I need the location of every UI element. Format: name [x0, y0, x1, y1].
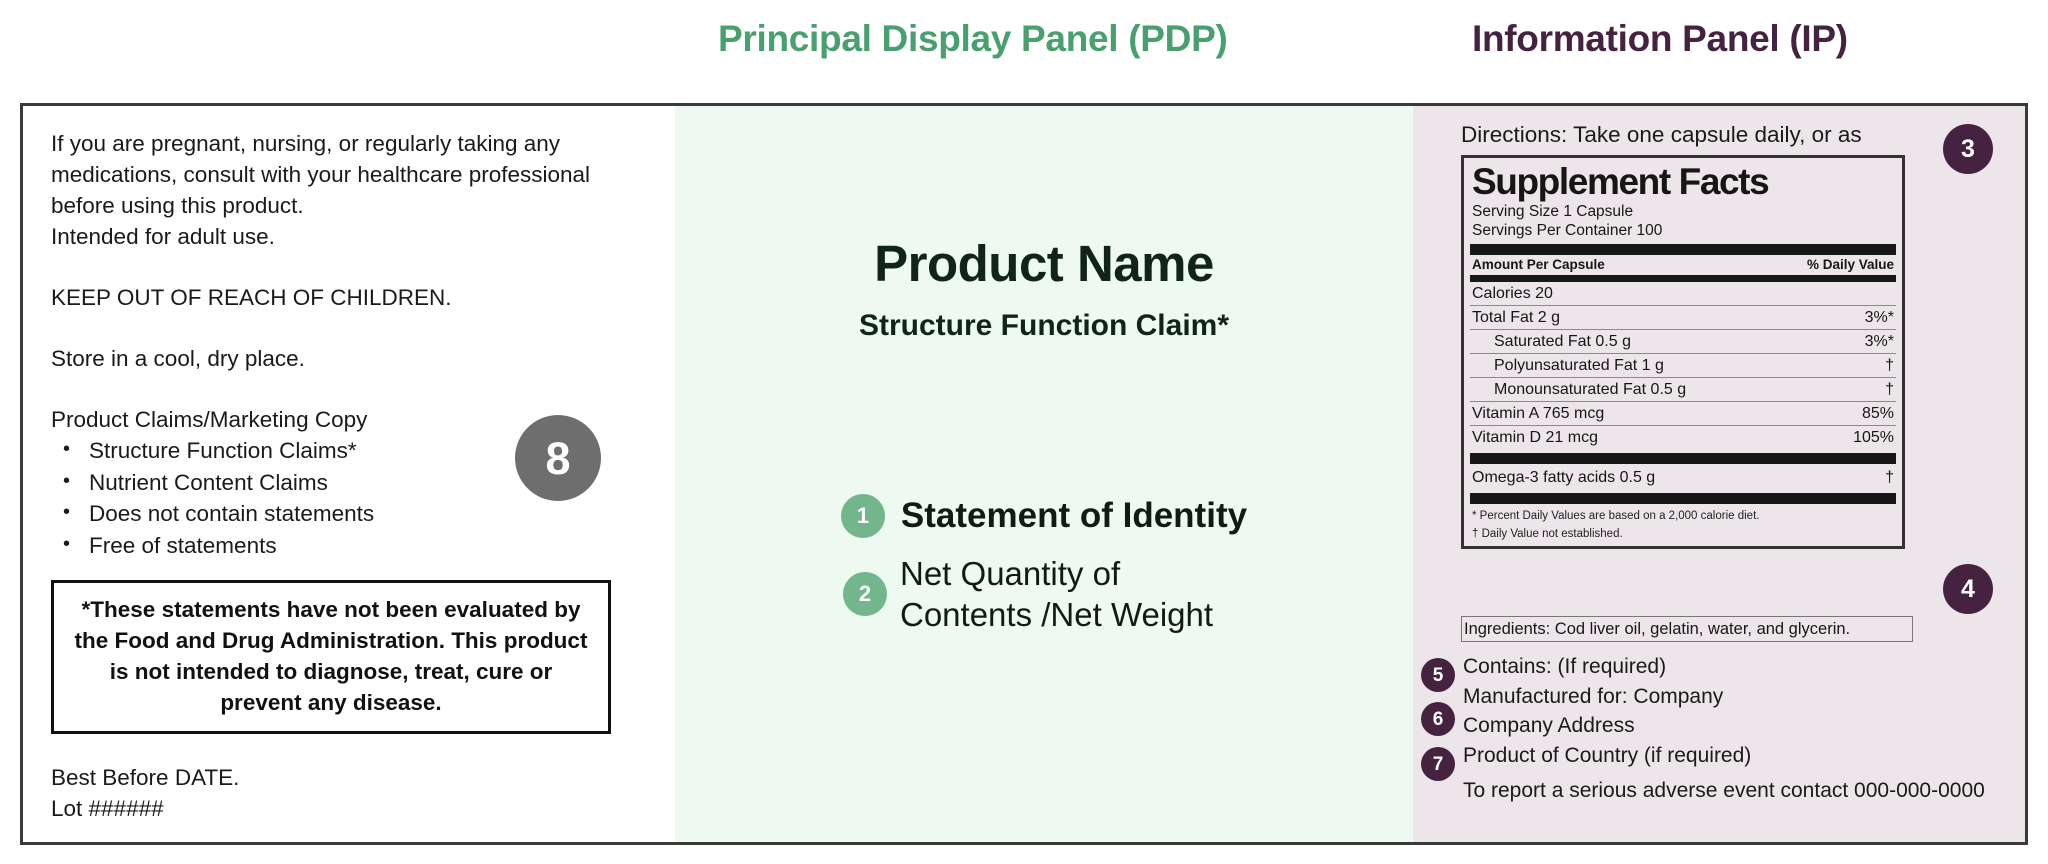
table-row: Monounsaturated Fat 0.5 g †: [1470, 378, 1896, 402]
table-row: Omega-3 fatty acids 0.5 g †: [1470, 466, 1896, 489]
list-item: Free of statements: [57, 530, 655, 562]
net-quantity-of-contents: Net Quantity of Contents /Net Weight: [900, 553, 1213, 635]
lot-number: Lot ######: [51, 793, 655, 824]
nutrient-name: Monounsaturated Fat 0.5 g: [1472, 379, 1686, 400]
column-header-daily-value: % Daily Value: [1807, 257, 1894, 272]
nutrient-name: Calories 20: [1472, 283, 1553, 304]
information-panel-lines: Contains: (If required) Manufactured for…: [1463, 652, 1985, 806]
supplement-label-frame: If you are pregnant, nursing, or regular…: [20, 103, 2028, 845]
callout-badge-2[interactable]: 2: [843, 572, 887, 616]
callout-badge-6[interactable]: 6: [1421, 702, 1455, 736]
ingredients-statement: Ingredients: Cod liver oil, gelatin, wat…: [1461, 616, 1913, 642]
nutrient-dv: †: [1885, 379, 1894, 400]
table-row: Saturated Fat 0.5 g 3%*: [1470, 330, 1896, 354]
adverse-event-statement: To report a serious adverse event contac…: [1463, 776, 1985, 806]
nutrient-dv: 3%*: [1865, 331, 1894, 352]
best-before-date: Best Before DATE.: [51, 762, 655, 793]
spacer-4: [51, 734, 655, 762]
list-item: Does not contain statements: [57, 498, 655, 530]
information-panel: Directions: Take one capsule daily, or a…: [1413, 106, 2025, 842]
callout-badge-7[interactable]: 7: [1421, 747, 1455, 781]
statement-of-identity: Statement of Identity: [901, 496, 1247, 536]
nutrient-name: Vitamin A 765 mcg: [1472, 403, 1604, 424]
back-panel: If you are pregnant, nursing, or regular…: [23, 106, 675, 842]
divider-thick-middle: [1470, 453, 1896, 464]
product-name: Product Name: [675, 234, 1413, 293]
manufactured-for-statement: Manufactured for: Company: [1463, 682, 1985, 712]
supplement-facts-column-headers: Amount Per Capsule % Daily Value: [1470, 257, 1896, 273]
supplement-facts-title: Supplement Facts: [1472, 161, 1896, 202]
pdp-header-label: Principal Display Panel (PDP): [718, 18, 1227, 60]
callout-badge-4[interactable]: 4: [1943, 564, 1993, 614]
fda-disclaimer-box: *These statements have not been evaluate…: [51, 580, 611, 734]
adult-use-statement: Intended for adult use.: [51, 221, 655, 252]
nutrient-name: Total Fat 2 g: [1472, 307, 1560, 328]
supplement-facts-box: Supplement Facts Serving Size 1 Capsule …: [1461, 155, 1905, 549]
net-quantity-line-1: Net Quantity of: [900, 553, 1213, 594]
company-address: Company Address: [1463, 711, 1985, 741]
principal-display-panel: Product Name Structure Function Claim* 1…: [675, 106, 1413, 842]
structure-function-claim: Structure Function Claim*: [675, 309, 1413, 343]
footnote-daily-value-not-established: † Daily Value not established.: [1470, 524, 1896, 542]
callout-badge-8[interactable]: 8: [515, 415, 601, 501]
nutrient-dv: 85%: [1862, 403, 1894, 424]
divider-thick-top: [1470, 244, 1896, 255]
nutrient-name: Saturated Fat 0.5 g: [1472, 331, 1631, 352]
nutrient-dv: †: [1885, 355, 1894, 376]
product-of-country-statement: Product of Country (if required): [1463, 741, 1985, 771]
nutrient-dv: 3%*: [1865, 307, 1894, 328]
divider-thick-bottom: [1470, 493, 1896, 504]
table-row: Calories 20: [1470, 282, 1896, 306]
net-quantity-line-2: Contents /Net Weight: [900, 594, 1213, 635]
table-row: Vitamin A 765 mcg 85%: [1470, 402, 1896, 426]
divider-medium: [1470, 275, 1896, 282]
callout-badge-3[interactable]: 3: [1943, 124, 1993, 174]
servings-per-container: Servings Per Container 100: [1472, 222, 1896, 241]
nutrient-dv: 105%: [1853, 427, 1894, 448]
nutrient-name: Vitamin D 21 mcg: [1472, 427, 1598, 448]
spacer-3: [51, 374, 655, 404]
callout-badge-5[interactable]: 5: [1421, 658, 1455, 692]
nutrient-dv: †: [1885, 467, 1894, 488]
nutrient-name: Polyunsaturated Fat 1 g: [1472, 355, 1664, 376]
column-header-amount: Amount Per Capsule: [1472, 257, 1605, 272]
table-row: Polyunsaturated Fat 1 g †: [1470, 354, 1896, 378]
warning-statement: If you are pregnant, nursing, or regular…: [51, 128, 655, 221]
spacer-2: [51, 313, 655, 343]
storage-statement: Store in a cool, dry place.: [51, 343, 655, 374]
keep-out-of-reach-statement: KEEP OUT OF REACH OF CHILDREN.: [51, 282, 655, 313]
nutrient-name: Omega-3 fatty acids 0.5 g: [1472, 467, 1655, 488]
serving-size: Serving Size 1 Capsule: [1472, 203, 1896, 222]
spacer-1: [51, 252, 655, 282]
panel-headers: Principal Display Panel (PDP) Informatio…: [0, 0, 2048, 103]
net-quantity-row: 2 Net Quantity of Contents /Net Weight: [843, 553, 1213, 635]
footnote-percent-daily-value: * Percent Daily Values are based on a 2,…: [1470, 506, 1896, 524]
statement-of-identity-row: 1 Statement of Identity: [675, 494, 1413, 538]
table-row: Vitamin D 21 mcg 105%: [1470, 426, 1896, 449]
table-row: Total Fat 2 g 3%*: [1470, 306, 1896, 330]
ip-header-label: Information Panel (IP): [1472, 18, 1848, 60]
callout-badge-1[interactable]: 1: [841, 494, 885, 538]
contains-statement: Contains: (If required): [1463, 652, 1985, 682]
